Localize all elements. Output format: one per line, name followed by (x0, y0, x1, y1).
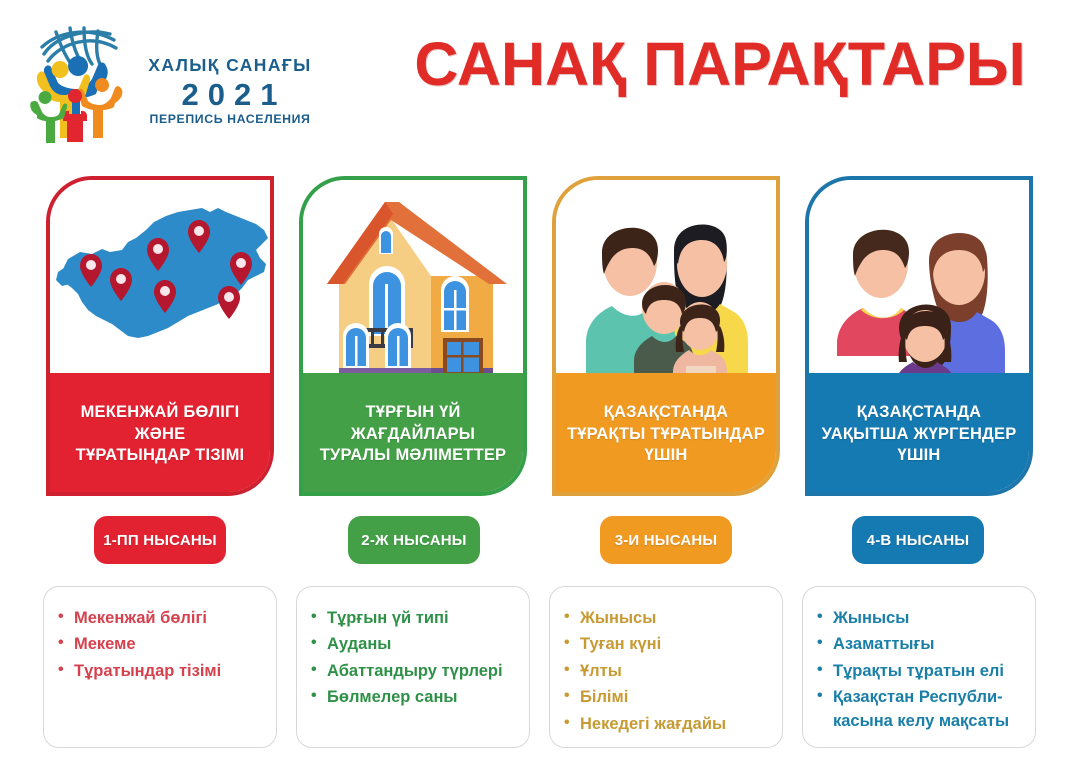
list-item: Ауданы (311, 633, 519, 656)
card-permanent-residents[interactable]: ҚАЗАҚСТАНДА ТҰРАҚТЫ ТҰРАТЫНДАР ҮШІН (552, 176, 780, 496)
card-housing-conditions[interactable]: ТҰРҒЫН ҮЙ ЖАҒДАЙЛАРЫ ТУРАЛЫ МӘЛІМЕТТЕР (299, 176, 527, 496)
list-item: Білімі (564, 686, 772, 709)
card-label-line: ТҰРАҚТЫ ТҰРАТЫНДАР (567, 425, 765, 443)
page-title: САНАҚ ПАРАҚТАРЫ (400, 34, 1040, 95)
list-item: Ұлты (564, 660, 772, 683)
card-label-line: ҮШІН (897, 446, 940, 464)
list: Жынысы Азаматтығы Тұрақты тұратын елі Қа… (817, 607, 1025, 733)
list-item-line: Қазақстан Республи- (833, 688, 1003, 706)
infographic-page: ХАЛЫҚ САНАҒЫ 2021 ПЕРЕПИСЬ НАСЕЛЕНИЯ САН… (0, 0, 1080, 765)
list-temporary-residents: Жынысы Азаматтығы Тұрақты тұратын елі Қа… (802, 586, 1036, 748)
card-label-line: ҚАЗАҚСТАНДА (857, 403, 982, 421)
form-badge-row: 1-ПП НЫСАНЫ 2-Ж НЫСАНЫ 3-И НЫСАНЫ 4-В НЫ… (0, 516, 1080, 566)
census-family-shanyrak-logo-icon (22, 14, 130, 144)
logo-line-kk: ХАЛЫҚ САНАҒЫ (140, 57, 320, 75)
list: Тұрғын үй типі Ауданы Абаттандыру түрлер… (311, 607, 519, 710)
logo-year: 2021 (140, 77, 320, 113)
card-label-line: ҮШІН (644, 446, 687, 464)
card-label-line: ТҰРҒЫН ҮЙ (365, 403, 460, 421)
card-label: ҚАЗАҚСТАНДА ТҰРАҚТЫ ТҰРАТЫНДАР ҮШІН (552, 373, 780, 496)
card-label: МЕКЕНЖАЙ БӨЛІГІ ЖӘНЕ ТҰРАТЫНДАР ТІЗІМІ (46, 373, 274, 496)
badge-form-2zh[interactable]: 2-Ж НЫСАНЫ (348, 516, 480, 564)
list: Жынысы Туған күні Ұлты Білімі Некедегі ж… (564, 607, 772, 736)
badge-form-1pp[interactable]: 1-ПП НЫСАНЫ (94, 516, 226, 564)
card-row: МЕКЕНЖАЙ БӨЛІГІ ЖӘНЕ ТҰРАТЫНДАР ТІЗІМІ (0, 176, 1080, 496)
kazakhstan-map-with-pins-icon (50, 180, 270, 385)
card-label-line: ЖӘНЕ (135, 425, 186, 443)
list-item: Абаттандыру түрлері (311, 660, 519, 683)
list-permanent-residents: Жынысы Туған күні Ұлты Білімі Некедегі ж… (549, 586, 783, 748)
list-item-line: касына келу мақсаты (833, 712, 1009, 730)
badge-form-4v[interactable]: 4-В НЫСАНЫ (852, 516, 984, 564)
header: ХАЛЫҚ САНАҒЫ 2021 ПЕРЕПИСЬ НАСЕЛЕНИЯ САН… (0, 0, 1080, 160)
card-label-line: МЕКЕНЖАЙ БӨЛІГІ (81, 403, 240, 421)
map-pin (218, 286, 240, 319)
list-item: Туған күні (564, 633, 772, 656)
list-item: Жынысы (564, 607, 772, 630)
card-label-line: ЖАҒДАЙЛАРЫ (351, 425, 475, 443)
list-item: Азаматтығы (817, 633, 1025, 656)
family-of-three-icon (809, 180, 1029, 385)
list-item: Некедегі жағдайы (564, 713, 772, 736)
list-item: Тұрғын үй типі (311, 607, 519, 630)
detail-list-row: Мекенжай бөлігі Мекеме Тұратындар тізімі… (0, 586, 1080, 748)
card-label-line: ТҰРАТЫНДАР ТІЗІМІ (76, 446, 245, 464)
card-temporary-residents[interactable]: ҚАЗАҚСТАНДА УАҚЫТША ЖҮРГЕНДЕР ҮШІН (805, 176, 1033, 496)
list-address-section: Мекенжай бөлігі Мекеме Тұратындар тізімі (43, 586, 277, 748)
card-label-line: ТУРАЛЫ МӘЛІМЕТТЕР (320, 446, 507, 464)
card-label-line: УАҚЫТША ЖҮРГЕНДЕР (822, 425, 1017, 443)
list-item: Мекеме (58, 633, 266, 656)
census-logo: ХАЛЫҚ САНАҒЫ 2021 ПЕРЕПИСЬ НАСЕЛЕНИЯ (22, 12, 312, 144)
list-item: Тұратындар тізімі (58, 660, 266, 683)
list-housing-conditions: Тұрғын үй типі Ауданы Абаттандыру түрлер… (296, 586, 530, 748)
card-label: ТҰРҒЫН ҮЙ ЖАҒДАЙЛАРЫ ТУРАЛЫ МӘЛІМЕТТЕР (299, 373, 527, 496)
card-address-section[interactable]: МЕКЕНЖАЙ БӨЛІГІ ЖӘНЕ ТҰРАТЫНДАР ТІЗІМІ (46, 176, 274, 496)
list-item: Жынысы (817, 607, 1025, 630)
list-item: Тұрақты тұратын елі (817, 660, 1025, 683)
family-of-four-icon (556, 180, 776, 385)
list-item: Қазақстан Республи-касына келу мақсаты (817, 686, 1025, 733)
list: Мекенжай бөлігі Мекеме Тұратындар тізімі (58, 607, 266, 683)
badge-form-3i[interactable]: 3-И НЫСАНЫ (600, 516, 732, 564)
logo-line-ru: ПЕРЕПИСЬ НАСЕЛЕНИЯ (140, 113, 320, 125)
house-icon (303, 180, 523, 385)
list-item: Мекенжай бөлігі (58, 607, 266, 630)
census-logo-text: ХАЛЫҚ САНАҒЫ 2021 ПЕРЕПИСЬ НАСЕЛЕНИЯ (140, 57, 320, 125)
card-label: ҚАЗАҚСТАНДА УАҚЫТША ЖҮРГЕНДЕР ҮШІН (805, 373, 1033, 496)
list-item: Бөлмелер саны (311, 686, 519, 709)
card-label-line: ҚАЗАҚСТАНДА (604, 403, 729, 421)
